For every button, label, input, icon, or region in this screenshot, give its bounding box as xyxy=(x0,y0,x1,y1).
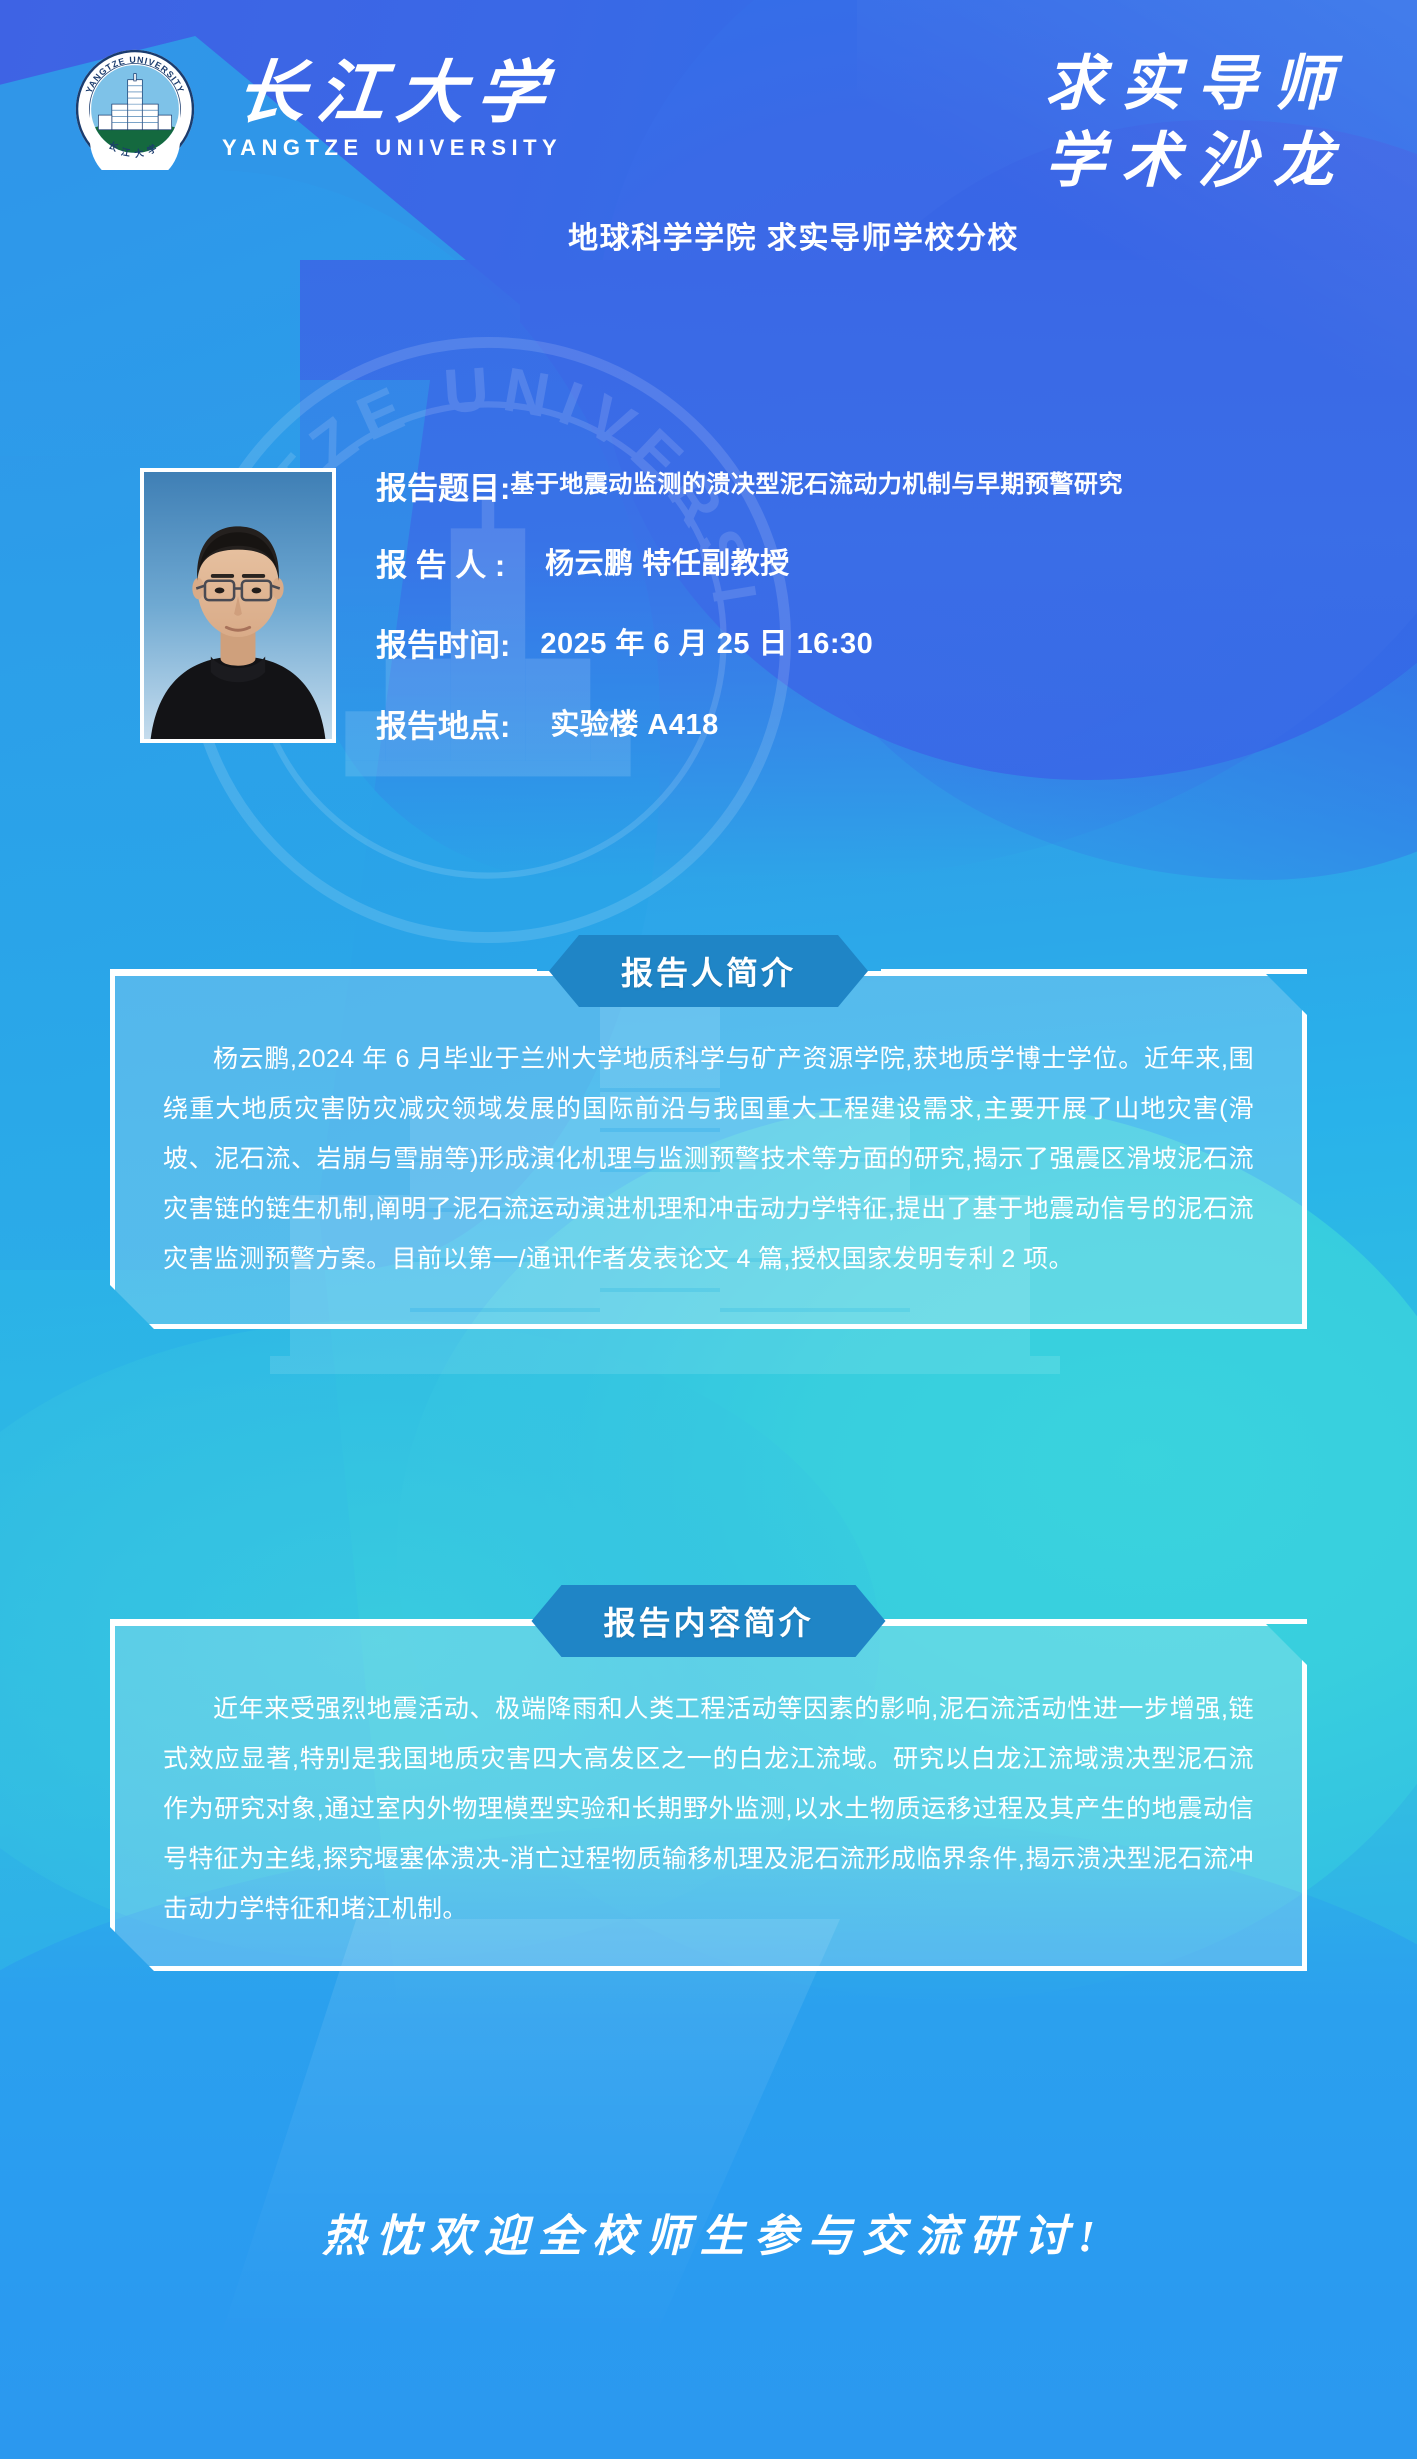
poster-header: YANGTZE UNIVERSITY 长江大学 长江大学 YANGTZE UNI… xyxy=(0,0,1417,300)
info-value-time: 2025 年 6 月 25 日 16:30 xyxy=(510,623,873,665)
info-label-time: 报告时间: xyxy=(376,623,510,670)
content-heading-row: 报告内容简介 xyxy=(0,1588,1417,1654)
content-panel: 近年来受强烈地震活动、极端降雨和人类工程活动等因素的影响,泥石流活动性进一步增强… xyxy=(110,1621,1307,1971)
talk-info-block: 报告题目: 基于地震动监测的溃决型泥石流动力机制与早期预警研究 报 告 人 : … xyxy=(140,468,1357,750)
info-row-place: 报告地点: 实验楼 A418 xyxy=(376,704,1357,751)
info-row-speaker: 报 告 人 : 杨云鹏 特任副教授 xyxy=(376,543,1357,590)
university-logo: YANGTZE UNIVERSITY 长江大学 长江大学 YANGTZE UNI… xyxy=(74,48,562,170)
university-seal-icon: YANGTZE UNIVERSITY 长江大学 xyxy=(74,48,196,170)
bio-heading-row: 报告人简介 xyxy=(0,938,1417,1004)
info-label-speaker: 报 告 人 : xyxy=(376,543,505,590)
salon-title-line2: 学术沙龙 xyxy=(1029,123,1349,200)
content-body-text: 近年来受强烈地震活动、极端降雨和人类工程活动等因素的影响,泥石流活动性进一步增强… xyxy=(163,1684,1254,1934)
department-subtitle: 地球科学学院 求实导师学校分校 xyxy=(0,213,1417,257)
poster-root: YANGTZE UNIVERSITY xyxy=(0,0,1417,2339)
info-row-title: 报告题目: 基于地震动监测的溃决型泥石流动力机制与早期预警研究 xyxy=(376,468,1357,509)
welcome-footer: 热忱欢迎全校师生参与交流研讨! xyxy=(0,2200,1417,2264)
info-label-place: 报告地点: xyxy=(376,704,510,751)
university-name-block: 长江大学 YANGTZE UNIVERSITY xyxy=(222,57,562,161)
info-value-title: 基于地震动监测的溃决型泥石流动力机制与早期预警研究 xyxy=(510,468,1123,502)
info-label-title: 报告题目: xyxy=(376,468,510,509)
info-value-place: 实验楼 A418 xyxy=(510,704,718,746)
speaker-portrait xyxy=(140,468,336,743)
section-speaker-bio: 杨云鹏,2024 年 6 月毕业于兰州大学地质科学与矿产资源学院,获地质学博士学… xyxy=(0,938,1417,1004)
content-heading-badge: 报告内容简介 xyxy=(531,1585,885,1657)
salon-title-line1: 求实导师 xyxy=(1029,46,1349,123)
bio-body-text: 杨云鹏,2024 年 6 月毕业于兰州大学地质科学与矿产资源学院,获地质学博士学… xyxy=(163,1034,1254,1284)
section-talk-content: 近年来受强烈地震活动、极端降雨和人类工程活动等因素的影响,泥石流活动性进一步增强… xyxy=(0,1588,1417,1654)
bio-panel: 杨云鹏,2024 年 6 月毕业于兰州大学地质科学与矿产资源学院,获地质学博士学… xyxy=(110,971,1307,1329)
university-name-cn: 长江大学 xyxy=(223,57,561,129)
bio-heading-badge: 报告人简介 xyxy=(549,935,868,1007)
university-name-en: YANGTZE UNIVERSITY xyxy=(222,135,562,161)
talk-info-rows: 报告题目: 基于地震动监测的溃决型泥石流动力机制与早期预警研究 报 告 人 : … xyxy=(376,468,1357,750)
info-row-time: 报告时间: 2025 年 6 月 25 日 16:30 xyxy=(376,623,1357,670)
info-value-speaker: 杨云鹏 特任副教授 xyxy=(505,543,790,585)
salon-title: 求实导师 学术沙龙 xyxy=(1029,46,1349,200)
